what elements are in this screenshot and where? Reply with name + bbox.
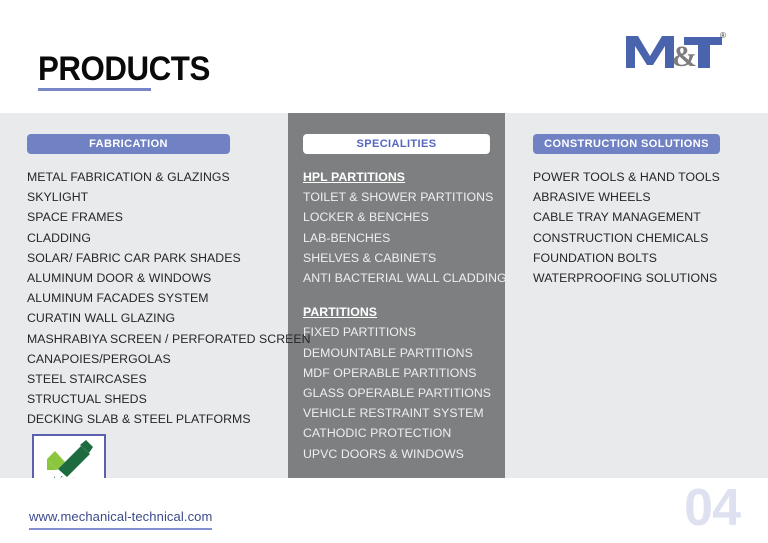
list-item[interactable]: SOLAR/ FABRIC CAR PARK SHADES — [27, 248, 288, 268]
product-list-specialities: HPL PARTITIONS TOILET & SHOWER PARTITION… — [303, 167, 505, 464]
column-heading-fabrication[interactable]: FABRICATION — [27, 134, 230, 154]
page-number: 04 — [684, 482, 740, 534]
list-item[interactable]: STRUCTUAL SHEDS — [27, 389, 288, 409]
list-item[interactable]: CLADDING — [27, 228, 288, 248]
list-item[interactable]: FOUNDATION BOLTS — [533, 248, 768, 268]
mt-logo: & ® — [624, 26, 728, 72]
list-item[interactable]: METAL FABRICATION & GLAZINGS — [27, 167, 288, 187]
list-item[interactable]: MASHRABIYA SCREEN / PERFORATED SCREEN — [27, 329, 288, 349]
product-list-fabrication: METAL FABRICATION & GLAZINGS SKYLIGHT SP… — [27, 167, 288, 430]
column-heading-specialities[interactable]: SPECIALITIES — [303, 134, 490, 154]
list-item[interactable]: SHELVES & CABINETS — [303, 248, 505, 268]
page-header: PRODUCTS & ® — [0, 0, 768, 113]
list-item[interactable]: ANTI BACTERIAL WALL CLADDING — [303, 268, 505, 288]
website-url-link[interactable]: www.mechanical-technical.com — [29, 509, 212, 530]
svg-text:®: ® — [720, 31, 726, 40]
column-fabrication: FABRICATION METAL FABRICATION & GLAZINGS… — [0, 113, 288, 430]
list-item[interactable]: SKYLIGHT — [27, 187, 288, 207]
list-item[interactable]: CATHODIC PROTECTION — [303, 423, 505, 443]
list-item[interactable]: GLASS OPERABLE PARTITIONS — [303, 383, 505, 403]
list-item[interactable]: ALUMINUM FACADES SYSTEM — [27, 288, 288, 308]
list-item[interactable]: DECKING SLAB & STEEL PLATFORMS — [27, 409, 288, 429]
list-item[interactable]: CONSTRUCTION CHEMICALS — [533, 228, 768, 248]
list-item[interactable]: MDF OPERABLE PARTITIONS — [303, 363, 505, 383]
list-group-heading[interactable]: PARTITIONS — [303, 302, 505, 322]
column-construction-solutions: CONSTRUCTION SOLUTIONS POWER TOOLS & HAN… — [505, 113, 768, 288]
list-group-heading[interactable]: HPL PARTITIONS — [303, 167, 505, 187]
list-item[interactable]: CANAPOIES/PERGOLAS — [27, 349, 288, 369]
list-item[interactable]: SPACE FRAMES — [27, 207, 288, 227]
column-specialities: SPECIALITIES HPL PARTITIONS TOILET & SHO… — [288, 113, 505, 464]
list-item[interactable]: CABLE TRAY MANAGEMENT — [533, 207, 768, 227]
list-item[interactable]: CURATIN WALL GLAZING — [27, 308, 288, 328]
list-item[interactable]: ALUMINUM DOOR & WINDOWS — [27, 268, 288, 288]
page-title: PRODUCTS — [38, 52, 210, 86]
list-item[interactable]: POWER TOOLS & HAND TOOLS — [533, 167, 768, 187]
list-item[interactable]: LOCKER & BENCHES — [303, 207, 505, 227]
list-item[interactable]: STEEL STAIRCASES — [27, 369, 288, 389]
list-item[interactable]: TOILET & SHOWER PARTITIONS — [303, 187, 505, 207]
list-item[interactable]: DEMOUNTABLE PARTITIONS — [303, 343, 505, 363]
list-item[interactable]: ABRASIVE WHEELS — [533, 187, 768, 207]
list-item[interactable]: FIXED PARTITIONS — [303, 322, 505, 342]
title-underline — [38, 88, 151, 91]
column-heading-construction-solutions[interactable]: CONSTRUCTION SOLUTIONS — [533, 134, 720, 154]
svg-text:&: & — [672, 40, 697, 72]
list-item[interactable]: LAB-BENCHES — [303, 228, 505, 248]
list-item[interactable]: UPVC DOORS & WINDOWS — [303, 444, 505, 464]
list-item[interactable]: WATERPROOFING SOLUTIONS — [533, 268, 768, 288]
list-item[interactable]: VEHICLE RESTRAINT SYSTEM — [303, 403, 505, 423]
product-list-construction-solutions: POWER TOOLS & HAND TOOLS ABRASIVE WHEELS… — [533, 167, 768, 288]
